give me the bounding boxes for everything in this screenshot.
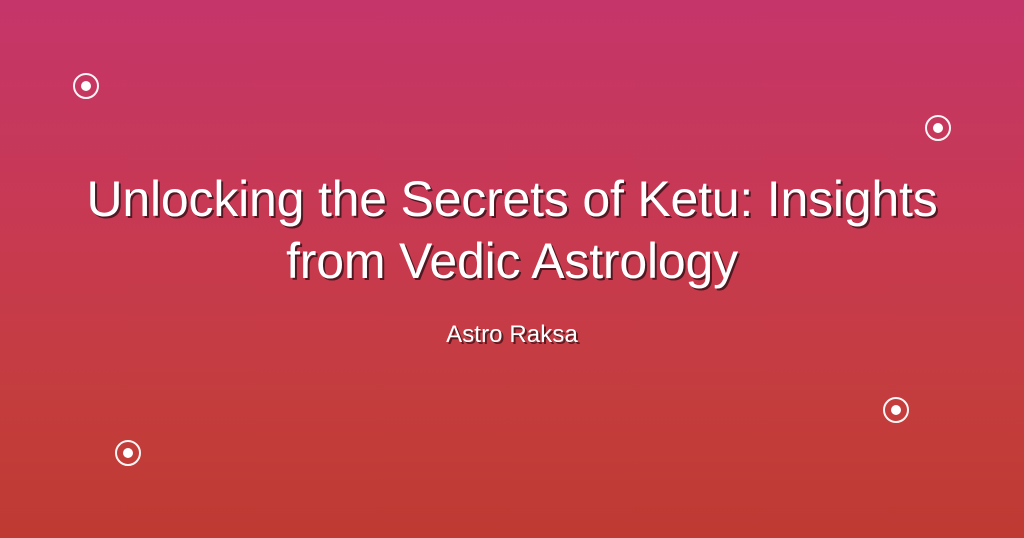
circle-marker-dot xyxy=(81,81,91,91)
circle-marker-top-left-icon xyxy=(73,73,99,99)
circle-marker-dot xyxy=(933,123,943,133)
slide-title: Unlocking the Secrets of Ketu: Insights … xyxy=(42,168,982,292)
circle-marker-top-right-icon xyxy=(925,115,951,141)
circle-marker-bottom-right-icon xyxy=(883,397,909,423)
circle-marker-dot xyxy=(123,448,133,458)
slide-subtitle: Astro Raksa xyxy=(446,320,578,350)
circle-marker-bottom-left-icon xyxy=(115,440,141,466)
slide-content: Unlocking the Secrets of Ketu: Insights … xyxy=(0,168,1024,350)
circle-marker-dot xyxy=(891,405,901,415)
title-slide: Unlocking the Secrets of Ketu: Insights … xyxy=(0,0,1024,538)
